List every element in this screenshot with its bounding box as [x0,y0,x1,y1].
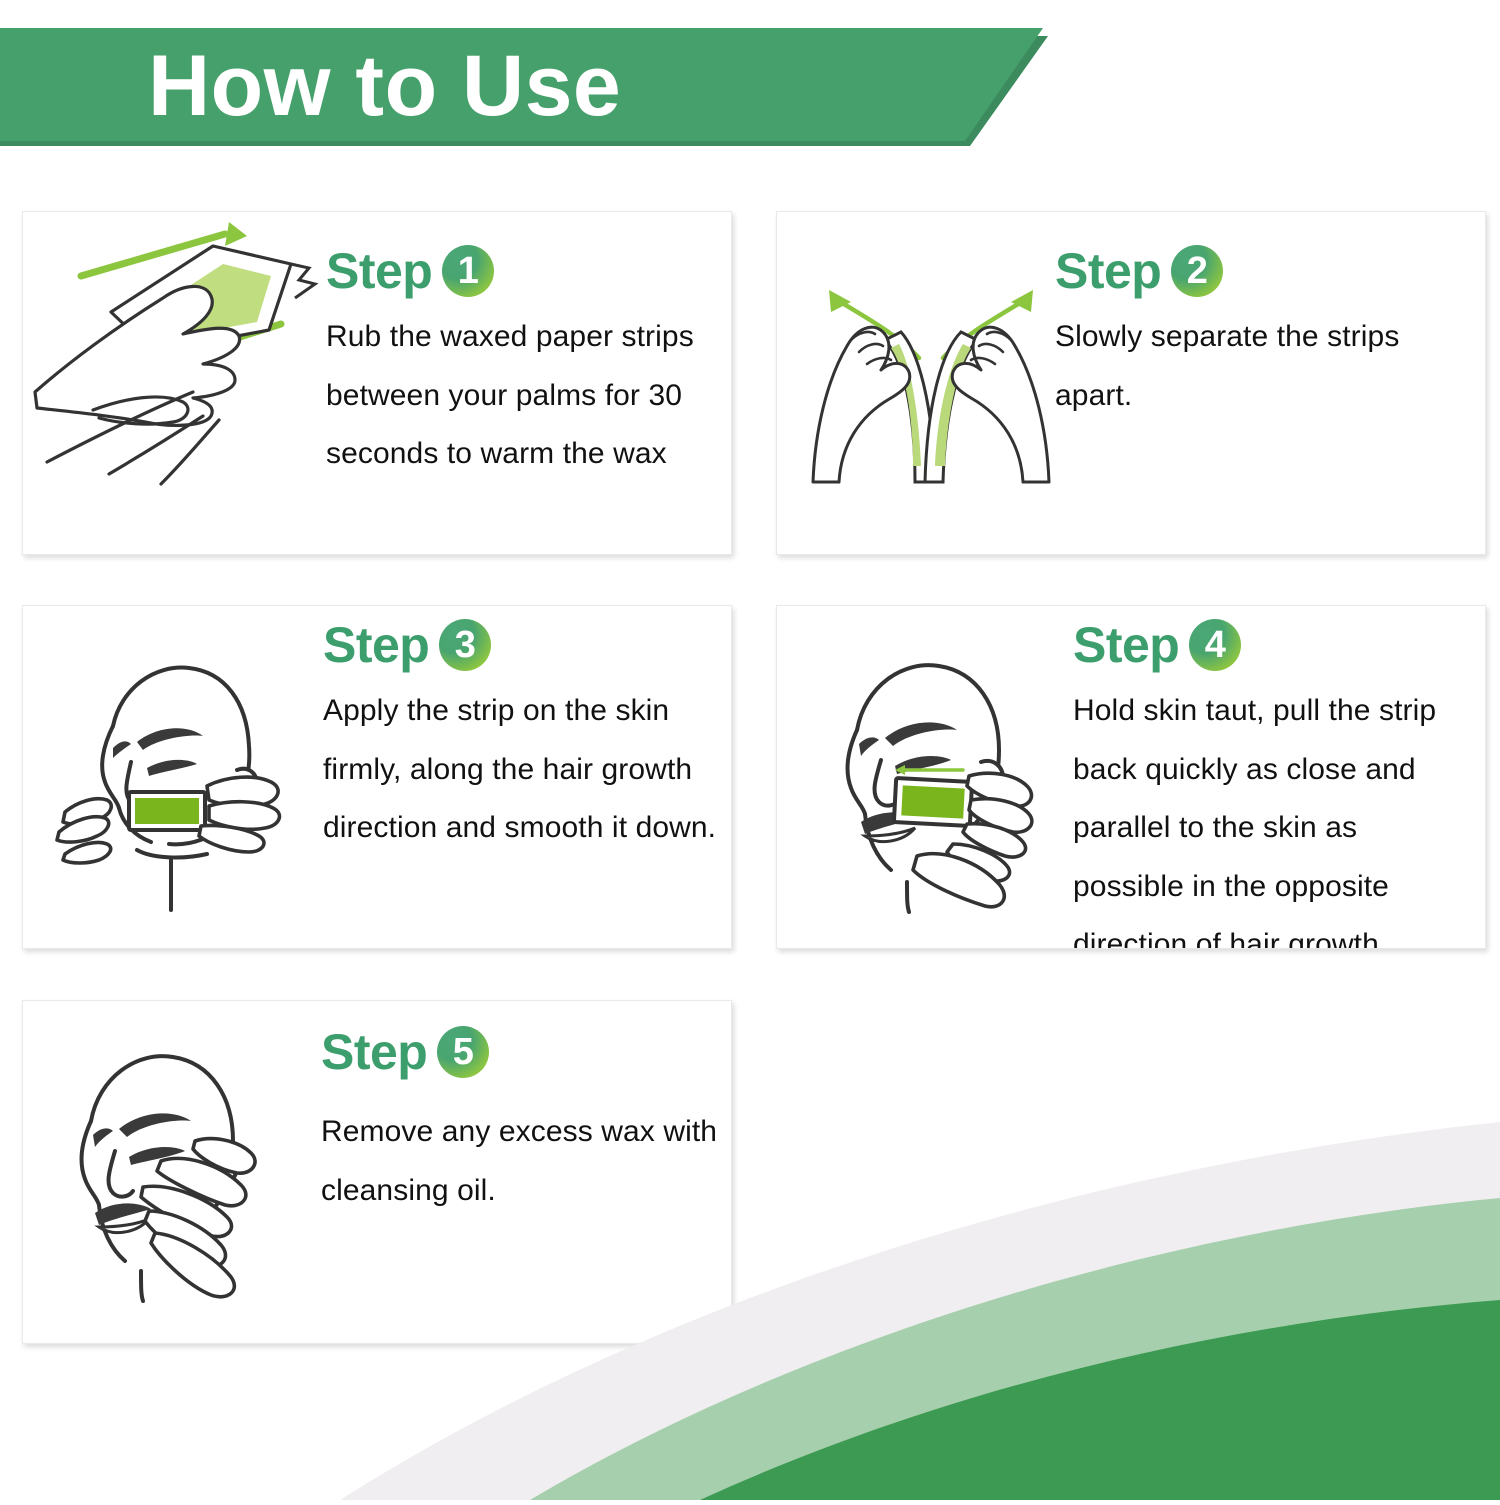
step-4-number: 4 [1189,619,1241,671]
step-3-label: Step [323,620,429,670]
step-3-heading: Step 3 [323,614,723,676]
step-4-illustration [803,644,1063,919]
step-4-number-badge: 4 [1189,619,1241,671]
step-1-text-column: Step 1 Rub the waxed paper strips betwee… [326,240,716,484]
step-5-number: 5 [437,1026,489,1078]
step-3-description: Apply the strip on the skin firmly, alon… [323,682,723,858]
step-2-text-column: Step 2 Slowly separate the strips apart. [1055,240,1455,425]
step-5-text-column: Step 5 Remove any excess wax with cleans… [321,1021,721,1220]
step-5-heading: Step 5 [321,1021,721,1083]
step-1-number-badge: 1 [442,245,494,297]
header-banner: How to Use [0,28,1050,143]
step-1-description: Rub the waxed paper strips between your … [326,308,716,484]
step-2-illustration [807,270,1057,525]
step-2-label: Step [1055,246,1161,296]
step-2-heading: Step 2 [1055,240,1455,302]
page-title: How to Use [148,43,621,129]
step-2-number-badge: 2 [1171,245,1223,297]
step-5-label: Step [321,1027,427,1077]
step-card-1: Step 1 Rub the waxed paper strips betwee… [22,211,732,555]
step-1-label: Step [326,246,432,296]
step-card-5: Step 5 Remove any excess wax with cleans… [22,1000,732,1344]
step-1-number: 1 [442,245,494,297]
step-3-illustration [51,654,301,919]
step-5-illustration [45,1043,295,1308]
step-card-2: Step 2 Slowly separate the strips apart. [776,211,1486,555]
step-1-illustration [33,212,323,517]
step-4-description: Hold skin taut, pull the strip back quic… [1073,682,1473,949]
step-2-number: 2 [1171,245,1223,297]
step-card-3: Step 3 Apply the strip on the skin firml… [22,605,732,949]
step-4-text-column: Step 4 Hold skin taut, pull the strip ba… [1073,614,1473,949]
step-3-text-column: Step 3 Apply the strip on the skin firml… [323,614,723,858]
step-4-label: Step [1073,620,1179,670]
step-5-description: Remove any excess wax with cleansing oil… [321,1103,721,1220]
step-3-number-badge: 3 [439,619,491,671]
step-3-number: 3 [439,619,491,671]
step-5-number-badge: 5 [437,1026,489,1078]
step-1-heading: Step 1 [326,240,716,302]
step-card-4: Step 4 Hold skin taut, pull the strip ba… [776,605,1486,949]
step-2-description: Slowly separate the strips apart. [1055,308,1455,425]
step-4-heading: Step 4 [1073,614,1473,676]
